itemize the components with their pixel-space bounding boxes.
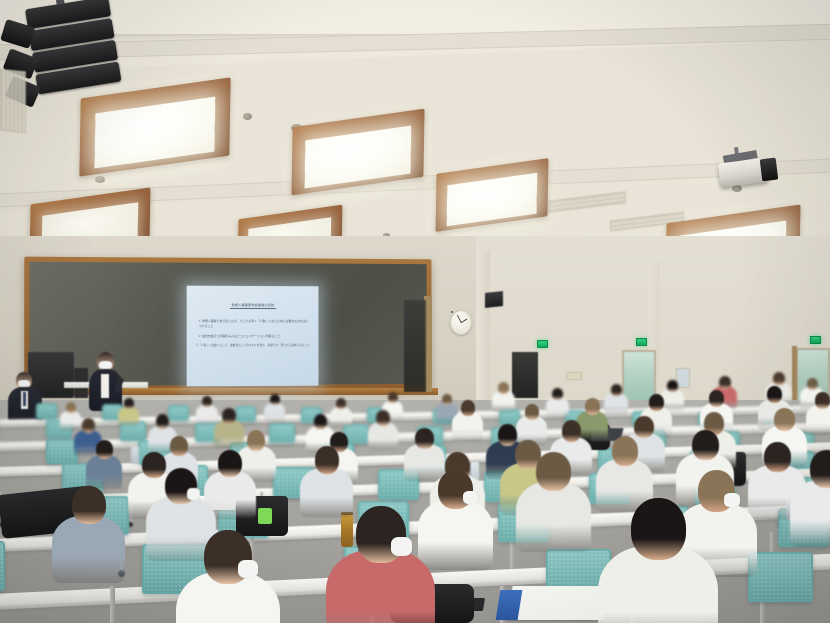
chair[interactable] bbox=[36, 403, 57, 419]
attendee bbox=[516, 452, 591, 561]
ceiling-sensor-icon bbox=[243, 113, 252, 120]
attendee-head bbox=[314, 414, 327, 429]
table-leg bbox=[110, 586, 115, 623]
attendee-head bbox=[202, 396, 212, 407]
face-mask bbox=[18, 380, 30, 387]
attendee-head bbox=[667, 380, 678, 392]
attendee-head bbox=[336, 398, 346, 409]
attendee-head bbox=[774, 408, 795, 431]
attendee bbox=[176, 530, 280, 623]
attendee-torso bbox=[52, 516, 125, 583]
attendee-head bbox=[222, 408, 236, 424]
attendee bbox=[806, 392, 830, 439]
side-doorway bbox=[404, 300, 426, 392]
attendee-head bbox=[124, 398, 134, 409]
bag-accent bbox=[258, 508, 272, 524]
attendee-head bbox=[764, 442, 791, 472]
clock-minute-hand bbox=[457, 314, 462, 322]
attendee-torso bbox=[790, 480, 830, 547]
attendee-head bbox=[719, 376, 731, 389]
chair-rim bbox=[36, 403, 57, 419]
attendee bbox=[264, 394, 285, 424]
chair[interactable] bbox=[748, 552, 813, 602]
attendee-head bbox=[498, 382, 509, 394]
wall-speaker bbox=[485, 291, 503, 308]
attendee-head bbox=[810, 450, 830, 488]
attendee-head bbox=[72, 486, 106, 524]
attendee-torso bbox=[492, 391, 515, 412]
attendee-torso bbox=[118, 407, 139, 426]
attendee-head bbox=[315, 446, 339, 474]
wall-clock bbox=[450, 310, 472, 335]
attendee bbox=[118, 398, 139, 428]
presenter bbox=[88, 352, 122, 410]
attendee-head bbox=[634, 416, 654, 438]
attendee-torso bbox=[86, 455, 122, 489]
attendee bbox=[452, 400, 483, 445]
attendee-head bbox=[562, 420, 581, 442]
attendee bbox=[492, 382, 515, 415]
attendee-head bbox=[649, 394, 664, 411]
exit-sign bbox=[810, 336, 821, 344]
attendee-head bbox=[388, 392, 398, 403]
slide-bullet: 1. 新規入職者である皆さんが、少しでも早く「人財」になるために必要なものを身に… bbox=[199, 319, 311, 329]
chair-rim bbox=[0, 541, 5, 591]
chair[interactable] bbox=[0, 541, 5, 591]
attendee-head bbox=[585, 398, 600, 415]
attendee bbox=[368, 410, 398, 454]
attendee-head bbox=[536, 452, 571, 491]
attendee-head bbox=[773, 372, 785, 385]
attendee-head bbox=[376, 410, 390, 426]
slide-body: 1. 新規入職者である皆さんが、少しでも早く「人財」になるために必要なものを身に… bbox=[195, 319, 311, 339]
attendee bbox=[790, 450, 830, 555]
chair-rim bbox=[748, 552, 813, 602]
attendee-head bbox=[415, 428, 434, 449]
attendee-torso bbox=[264, 403, 285, 422]
face-mask bbox=[99, 361, 112, 369]
face-mask bbox=[187, 488, 200, 500]
attendee-head bbox=[96, 440, 113, 459]
attendee-head bbox=[692, 430, 719, 460]
clock-center bbox=[451, 311, 453, 313]
attendee-head bbox=[612, 436, 638, 466]
attendee-head bbox=[66, 402, 76, 413]
exit-sign bbox=[537, 340, 548, 348]
attendee-head bbox=[525, 404, 539, 420]
face-mask bbox=[391, 537, 412, 556]
attendee-head bbox=[156, 414, 169, 429]
attendee-head bbox=[767, 386, 782, 403]
face-mask bbox=[724, 493, 740, 507]
rear-door bbox=[512, 352, 538, 398]
attendee-torso bbox=[546, 397, 569, 418]
attendee-head bbox=[442, 394, 452, 405]
attendee-torso bbox=[516, 482, 591, 552]
attendee-head bbox=[631, 498, 686, 560]
line-array-speaker bbox=[16, 0, 136, 111]
lecture-hall-photo: 新規入職者研修会開催の目的 1. 新規入職者である皆さんが、少しでも早く「人財」… bbox=[0, 0, 830, 623]
attendee-torso bbox=[452, 412, 483, 441]
slide-title-row: 新規入職者研修会開催の目的 bbox=[195, 293, 311, 311]
exit-sign bbox=[636, 338, 647, 346]
handout-paper bbox=[507, 586, 608, 620]
attendee-head bbox=[218, 450, 242, 477]
attendee-head bbox=[461, 400, 475, 416]
wall-pillar bbox=[476, 250, 490, 400]
microphone bbox=[117, 376, 121, 381]
attendee bbox=[326, 506, 435, 623]
attendee-head bbox=[270, 394, 280, 405]
projector-lens-icon bbox=[760, 158, 779, 182]
attendee-head bbox=[611, 384, 622, 396]
presenter-shirt bbox=[101, 374, 109, 398]
attendee-torso bbox=[368, 422, 398, 450]
projected-slide: 新規入職者研修会開催の目的 1. 新規入職者である皆さんが、少しでも早く「人財」… bbox=[187, 286, 319, 387]
ceiling-speaker-icon bbox=[95, 176, 105, 183]
slide-footnote: ※「人財」= 社会人として、技術者としてのスキルを持ち、貢献でき、周りから認めら… bbox=[195, 344, 311, 349]
attendee bbox=[546, 388, 569, 421]
slide-title: 新規入職者研修会開催の目的 bbox=[230, 302, 277, 309]
attendee-head bbox=[807, 378, 818, 390]
attendee-head bbox=[247, 430, 265, 451]
slide-bullet: 2. 会社を超えた同期のみんなとコミュニケーションを取ること bbox=[199, 334, 311, 339]
face-mask bbox=[238, 560, 258, 578]
attendee-head bbox=[709, 390, 724, 407]
wall-notice bbox=[566, 372, 582, 380]
attendee-head bbox=[815, 392, 830, 409]
attendee-torso bbox=[806, 405, 830, 435]
attendee bbox=[52, 486, 125, 591]
necktie bbox=[23, 392, 26, 406]
attendee-head bbox=[82, 418, 95, 433]
wall-grille bbox=[0, 69, 26, 134]
attendee-head bbox=[552, 388, 563, 400]
attendee bbox=[598, 498, 718, 623]
face-mask bbox=[463, 491, 478, 504]
